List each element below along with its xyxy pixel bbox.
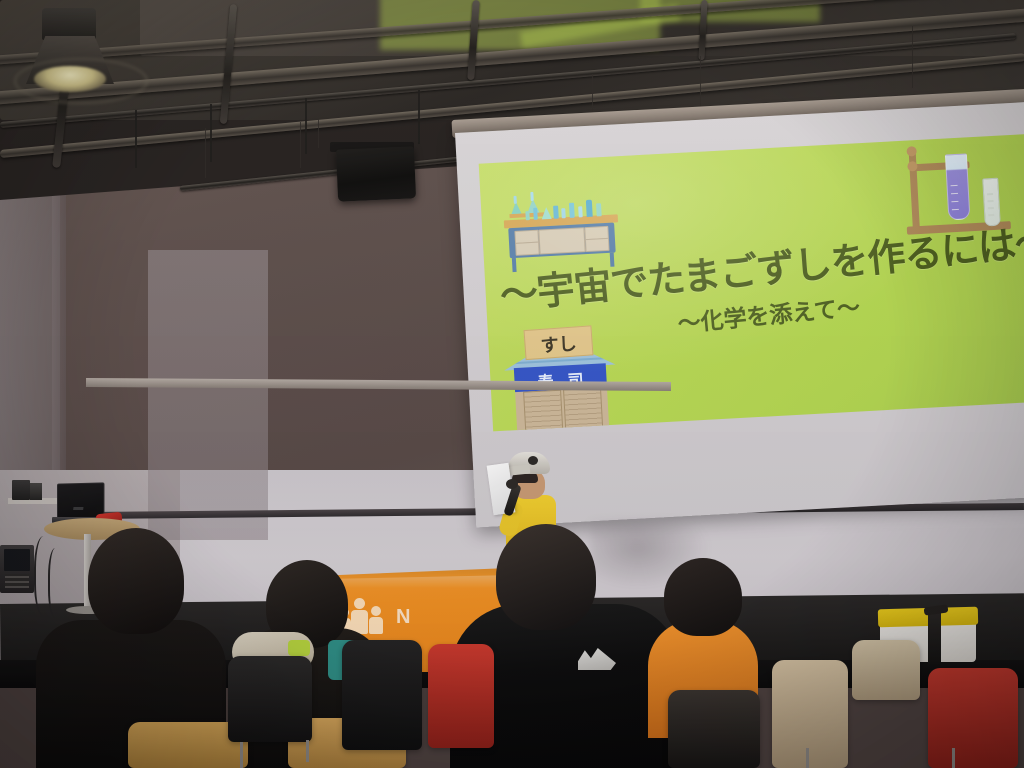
pendant-lamp-housing: [42, 8, 96, 40]
chair-black-2[interactable]: [342, 640, 422, 750]
ceiling-speaker: [336, 146, 416, 201]
microphone-head: [506, 479, 518, 489]
ceiling-hanger-wire: [205, 128, 206, 178]
chair-black-3[interactable]: [668, 690, 760, 768]
pendant-lamp-glow: [34, 66, 106, 92]
ceiling-hanger-wire: [700, 56, 701, 110]
chair-leg: [240, 742, 243, 768]
presenter-cap-logo: [528, 456, 538, 465]
shelf-device-2: [30, 483, 42, 500]
chair-leg: [306, 740, 309, 762]
sushi-shop-illustration: すし 寿司: [501, 315, 619, 432]
ceiling-hanger-wire: [318, 118, 319, 148]
ceiling-hanger-wire: [300, 122, 301, 168]
chair-beige-1[interactable]: [772, 660, 848, 768]
wall-column: [148, 250, 268, 540]
chair-leg: [952, 748, 955, 768]
test-tube-stand-illustration: [900, 139, 1015, 237]
chair-leg: [806, 748, 809, 768]
shelf-device-1: [12, 480, 30, 500]
scarf-accent: [288, 640, 310, 656]
av-equipment: [0, 545, 34, 593]
chair-black-1[interactable]: [228, 656, 312, 742]
ceiling-hanger-wire: [912, 26, 913, 88]
photo-scene: 〜宇宙でたまごずしを作るには〜 〜化学を添えて〜 すし 寿司: [0, 0, 1024, 768]
lab-bench-illustration: [500, 186, 622, 272]
chair-red-1[interactable]: [428, 644, 494, 748]
laptop-logo-icon: [73, 497, 85, 510]
banner-text: N: [396, 606, 411, 629]
chair-beige-2[interactable]: [852, 640, 920, 700]
chair-red-2[interactable]: [928, 668, 1018, 768]
sushi-sign-text: すし: [525, 328, 593, 359]
